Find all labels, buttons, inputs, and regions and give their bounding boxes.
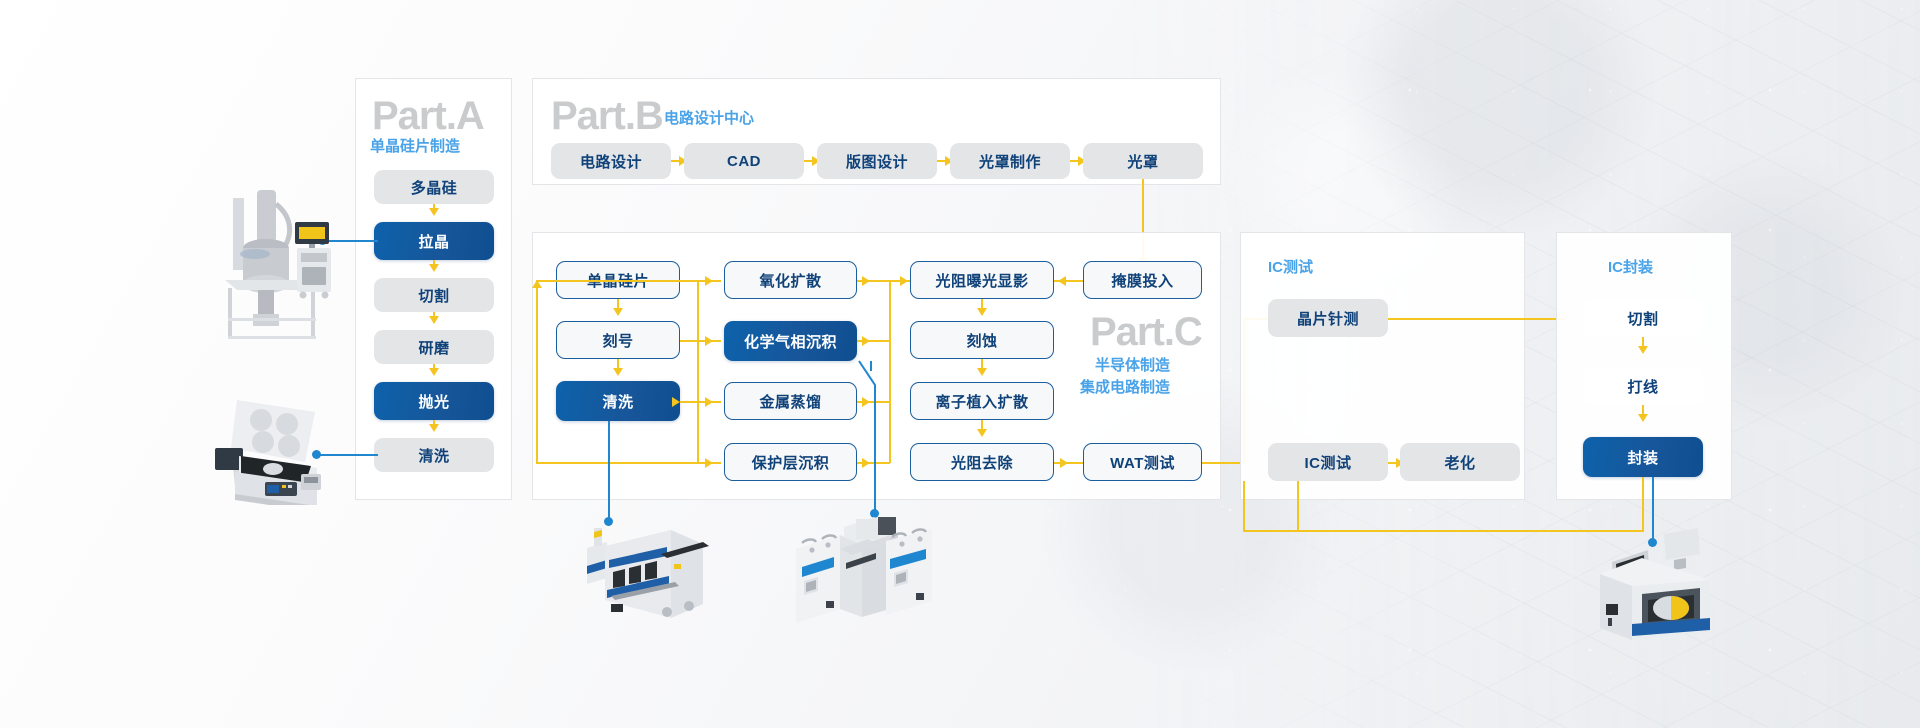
rail-c1-0-out [536,280,698,282]
rail-c1-2-out [680,401,698,403]
rail-left-return [536,280,538,463]
node-part-c-c2-3[interactable]: 保护层沉积 [724,443,857,481]
node-part-a-0[interactable]: 多晶硅 [374,170,494,204]
arrow-right-c1-2 [672,397,680,407]
arrow-right-c2-2 [705,397,713,407]
arrow-down-c3-2 [977,429,987,437]
wafer-cleaner-illustration [575,520,715,630]
node-part-a-1[interactable]: 拉晶 [374,222,494,260]
node-part-c-c3-2[interactable]: 离子植入扩散 [910,382,1054,420]
arrow-up-left-return [532,280,542,288]
connector-a1 [433,260,435,270]
arrow-right-c2-1-out [862,336,870,346]
arrow-down-c3-1 [977,368,987,376]
node-part-b-3[interactable]: 光罩制作 [950,143,1070,179]
arrow-right-c2-3-out [862,458,870,468]
part-c-subtitle-2: 集成电路制造 [1080,379,1170,398]
node-part-b-4[interactable]: 光罩 [1083,143,1203,179]
node-part-a-2[interactable]: 切割 [374,278,494,312]
node-ic-test-0[interactable]: 晶片针测 [1268,299,1388,337]
arrow-left-c4-0 [1058,276,1066,286]
arrow-down-c3-0 [977,308,987,316]
cvd-tool-illustration [790,505,940,630]
rail-c1-1-out [680,340,698,342]
part-a-heading: Part.A [372,96,484,136]
rail-bottom-feed [536,462,697,464]
node-part-c-c3-0[interactable]: 光阻曝光显影 [910,261,1054,299]
arrow-down-c1-0 [613,308,623,316]
node-part-c-c3-1[interactable]: 刻蚀 [910,321,1054,359]
connector-a0 [433,204,435,214]
part-b-subtitle: 电路设计中心 [664,110,754,129]
node-ic-package-0[interactable]: 切割 [1583,299,1703,337]
node-part-c-c2-2[interactable]: 金属蒸馏 [724,382,857,420]
arrow-right-c2-0 [705,276,713,286]
callout-line-cvd-seg2 [874,398,876,513]
crystal-puller-illustration [215,190,335,350]
callout-line-cleaner [608,421,610,521]
node-part-c-c1-1[interactable]: 刻号 [556,321,680,359]
node-part-c-c4-1[interactable]: WAT测试 [1083,443,1202,481]
node-part-a-3[interactable]: 研磨 [374,330,494,364]
node-part-c-c2-1[interactable]: 化学气相沉积 [724,321,857,361]
node-ic-package-2[interactable]: 封装 [1583,437,1703,477]
node-part-b-2[interactable]: 版图设计 [817,143,937,179]
arrow-right-c2-3 [705,458,713,468]
packaging-tester-illustration [1590,528,1730,643]
node-part-c-c3-3[interactable]: 光阻去除 [910,443,1054,481]
node-part-b-1[interactable]: CAD [684,143,804,179]
rail-ic-test-return [1243,481,1245,531]
connector-c3-3-to-wat [1054,462,1083,464]
part-b-heading: Part.B [551,96,663,136]
rail-probe-to-cut [1388,318,1564,320]
part-c-subtitle-1: 半导体制造 [1095,357,1170,376]
node-ic-test-1[interactable]: IC测试 [1268,443,1388,481]
arrow-right-col3-in [900,276,908,286]
ic-package-title: IC封装 [1608,256,1653,277]
node-ic-package-1[interactable]: 打线 [1583,367,1703,405]
node-part-c-c1-2[interactable]: 清洗 [556,381,680,421]
connector-a4 [433,420,435,430]
connector-a3 [433,364,435,374]
rail-wat-out [1202,462,1244,464]
part-a-subtitle: 单晶硅片制造 [370,138,460,157]
node-part-c-c2-0[interactable]: 氧化扩散 [724,261,857,299]
part-c-heading: Part.C [1090,312,1202,352]
arrow-down-pkg-1 [1638,414,1648,422]
rail-pkg-down [1642,477,1644,532]
node-part-a-5[interactable]: 清洗 [374,438,494,472]
callout-line-cvd-angle [855,355,905,405]
arrow-right-c2-0-out [862,276,870,286]
node-ic-test-2[interactable]: 老化 [1400,443,1520,481]
rail-col2-feed [697,280,699,463]
arrow-right-wat-in [1060,458,1068,468]
node-part-c-c4-0[interactable]: 掩膜投入 [1083,261,1202,299]
rail-ic-test-down [1297,481,1299,531]
connector-a2 [433,312,435,322]
rail-ic-test-left [1243,530,1298,532]
polisher-illustration [205,390,335,505]
ic-test-title: IC测试 [1268,256,1313,277]
arrow-right-c2-1 [705,336,713,346]
arrow-down-pkg-0 [1638,346,1648,354]
node-part-b-0[interactable]: 电路设计 [551,143,671,179]
arrow-down-c1-1 [613,368,623,376]
diagram-canvas: Part.A 单晶硅片制造 多晶硅 拉晶 切割 研磨 抛光 清洗 Part.B … [0,0,1920,728]
node-part-a-4[interactable]: 抛光 [374,382,494,420]
